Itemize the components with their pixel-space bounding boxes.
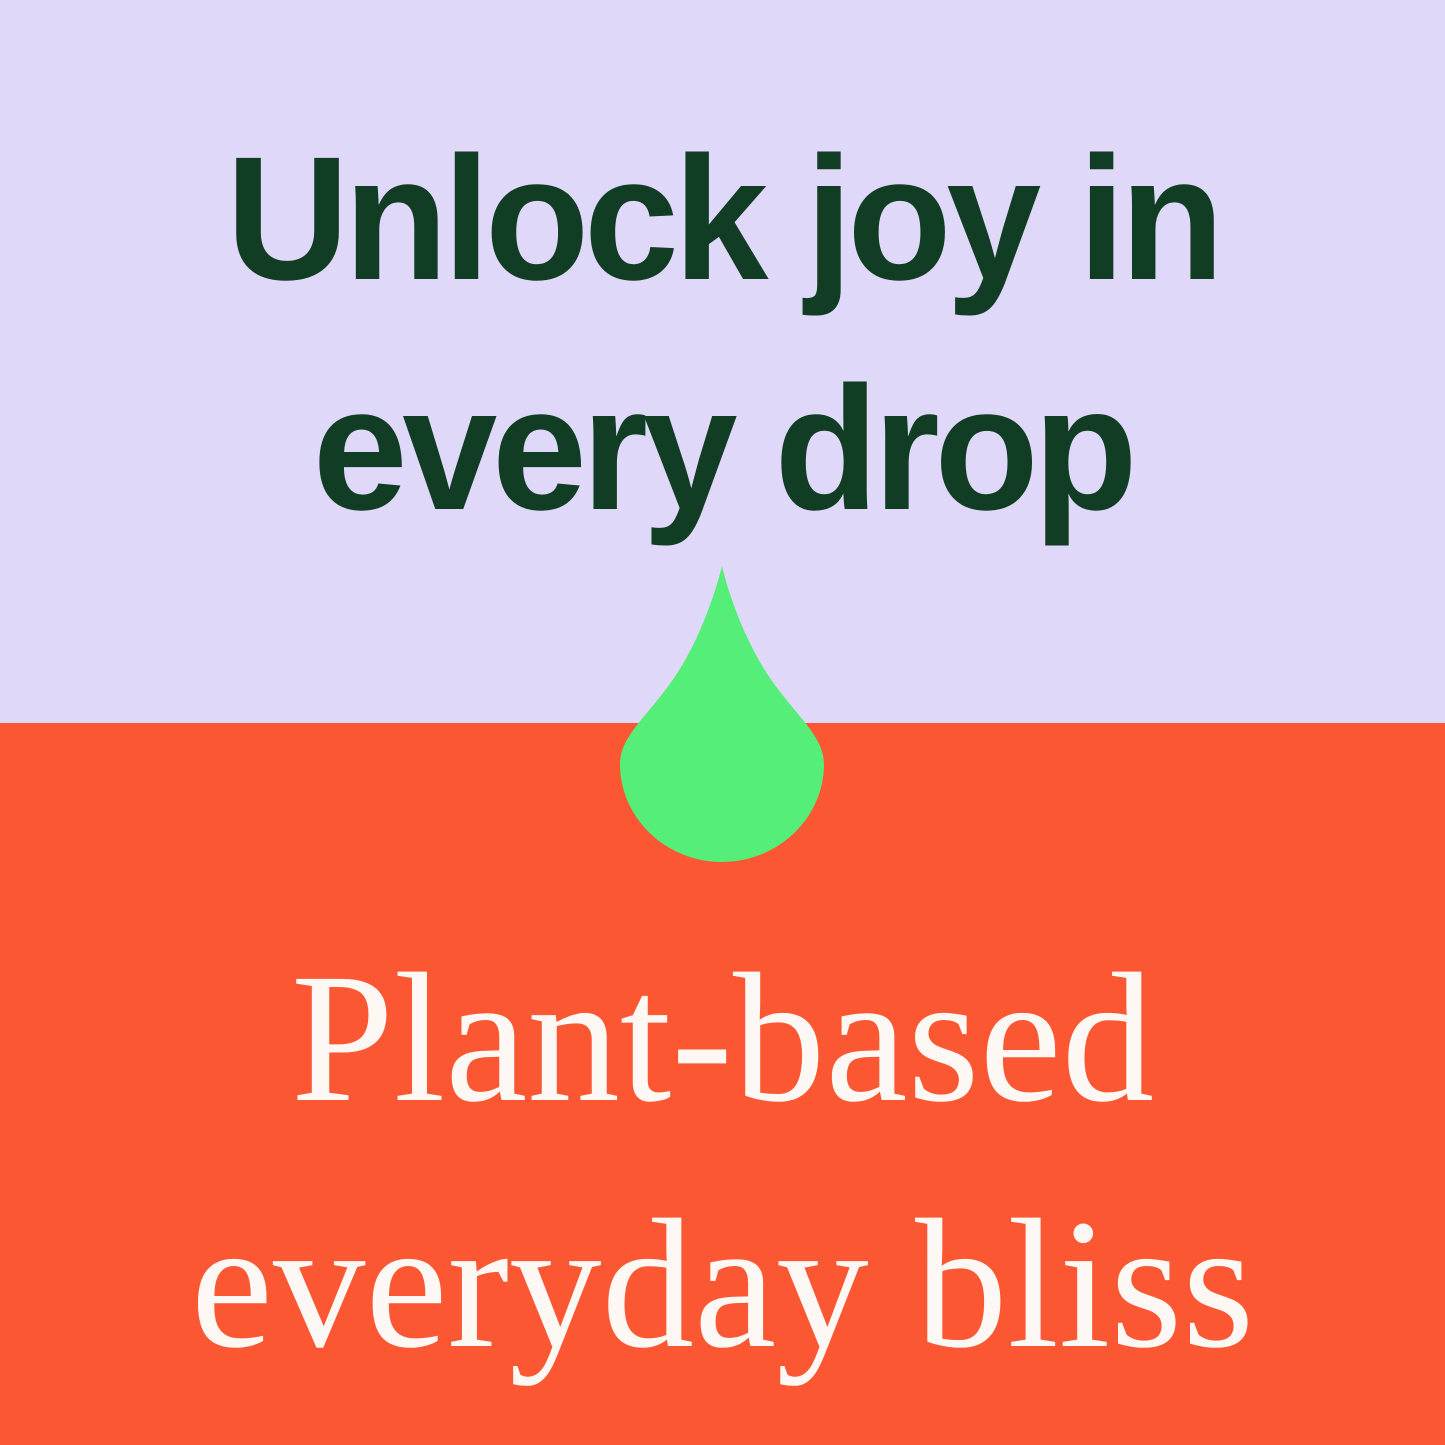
subhead-line-1: Plant-based [0,916,1445,1162]
headline: Unlock joy in every drop [0,104,1445,564]
headline-line-2: every drop [22,334,1424,564]
subhead: Plant-based everyday bliss [0,916,1445,1408]
subhead-line-2: everyday bliss [0,1162,1445,1408]
headline-line-1: Unlock joy in [22,104,1424,334]
poster-canvas: Unlock joy in every drop Plant-based eve… [0,0,1445,1445]
water-drop-icon [620,566,824,862]
